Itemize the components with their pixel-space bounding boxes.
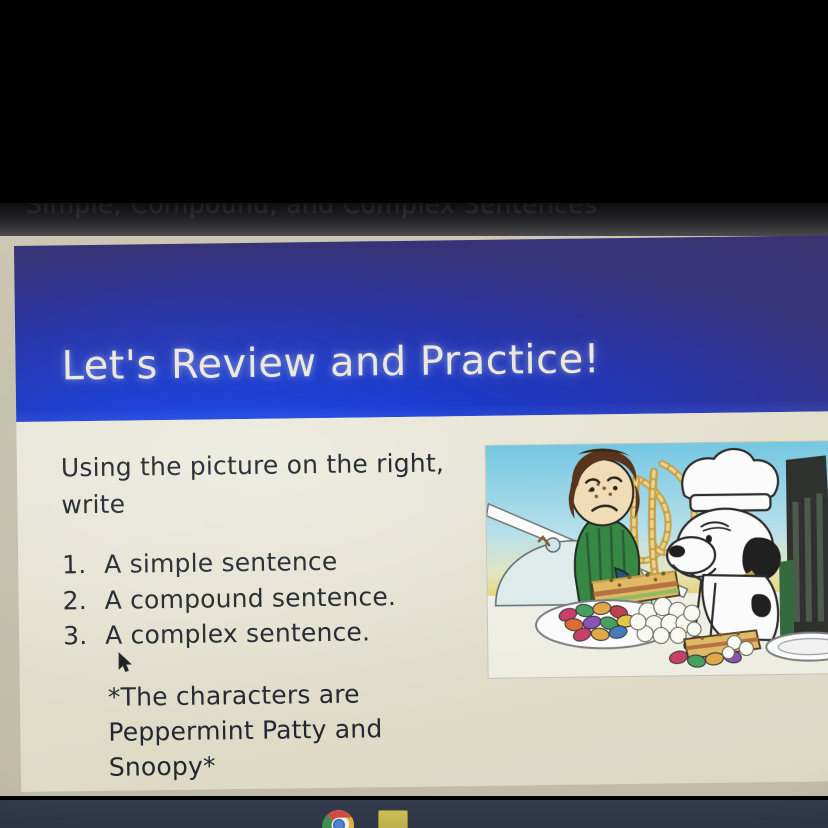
slide-note-line-3: Snoopy*: [109, 744, 485, 784]
os-taskbar[interactable]: [0, 800, 828, 828]
mouse-cursor-icon: [118, 652, 134, 674]
sentence-task-list: 1. A simple sentence 2. A compound sente…: [62, 542, 483, 654]
slide-text-column: Using the picture on the right, write 1.…: [61, 444, 485, 785]
letterbox-top: [0, 0, 828, 203]
slide: Let's Review and Practice! Using the pic…: [14, 235, 828, 792]
slide-note-line-2: Peppermint Patty and: [108, 709, 484, 749]
list-item-label: A simple sentence: [104, 544, 338, 583]
list-item-label: A complex sentence.: [105, 614, 371, 653]
slide-note-line-1: *The characters are: [108, 674, 484, 714]
list-item-number: 2.: [62, 583, 88, 619]
list-item-number: 1.: [62, 547, 88, 583]
document-icon[interactable]: [378, 810, 408, 828]
slide-note: *The characters are Peppermint Patty and…: [108, 674, 485, 784]
screen-photo-root: Simple, Compound, and Complex Sentences …: [0, 0, 828, 828]
list-item: 2. A compound sentence.: [62, 577, 482, 618]
chrome-icon[interactable]: [322, 808, 356, 828]
slide-title: Let's Review and Practice!: [61, 336, 600, 389]
slide-intro-line-2: write: [61, 481, 481, 523]
list-item: 3. A complex sentence.: [63, 613, 483, 654]
slide-body: Using the picture on the right, write 1.…: [16, 411, 828, 792]
slide-image-peppermint-patty-and-snoopy: [486, 441, 828, 678]
slide-title-band: Let's Review and Practice!: [14, 235, 828, 422]
list-item: 1. A simple sentence: [62, 542, 482, 583]
slide-intro-line-1: Using the picture on the right,: [61, 444, 481, 486]
slide-intro: Using the picture on the right, write: [61, 444, 482, 523]
list-item-number: 3.: [63, 618, 89, 654]
list-item-label: A compound sentence.: [104, 579, 396, 618]
